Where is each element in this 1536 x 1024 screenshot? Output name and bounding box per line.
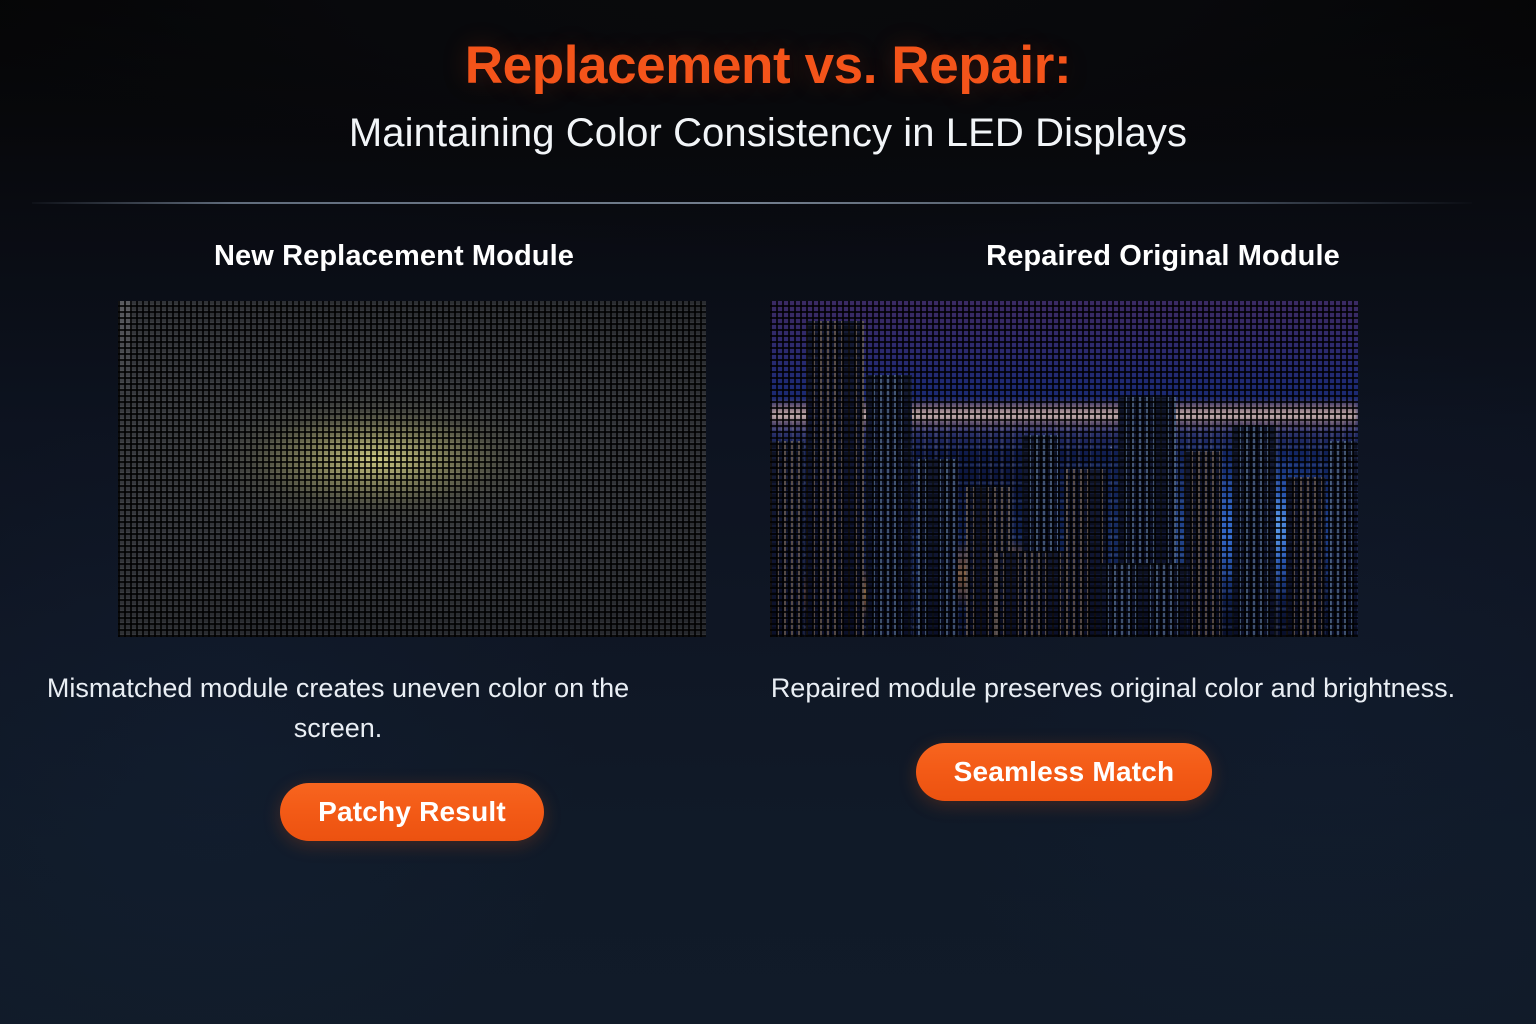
page-subtitle: Maintaining Color Consistency in LED Dis… — [0, 95, 1536, 157]
building-silhouette — [1286, 477, 1326, 637]
seamless-match-button[interactable]: Seamless Match — [916, 743, 1213, 801]
cityscape-image — [770, 301, 1358, 637]
panel-wrap-right — [768, 301, 1536, 637]
building-silhouette — [1232, 425, 1276, 637]
slide-header: Replacement vs. Repair: Maintaining Colo… — [0, 0, 1536, 157]
led-module-blemish — [118, 301, 132, 393]
building-silhouette — [1330, 441, 1358, 637]
caption-right: Repaired module preserves original color… — [768, 637, 1536, 709]
page-title: Replacement vs. Repair: — [0, 0, 1536, 95]
building-silhouette — [1184, 451, 1222, 637]
led-module-cityscape-panel — [770, 301, 1358, 637]
button-row-right: Seamless Match — [768, 743, 1358, 801]
led-module-dark-panel — [118, 301, 706, 637]
building-silhouette — [866, 375, 912, 637]
column-new-replacement-module: New Replacement Module Mismatched module… — [0, 240, 768, 841]
column-heading-right: Repaired Original Module — [768, 240, 1536, 273]
comparison-columns: New Replacement Module Mismatched module… — [0, 240, 1536, 841]
column-repaired-original-module: Repaired Original Module — [768, 240, 1536, 841]
building-silhouette — [996, 551, 1072, 637]
caption-left: Mismatched module creates uneven color o… — [0, 637, 768, 749]
panel-wrap-left — [0, 301, 768, 637]
patchy-result-button[interactable]: Patchy Result — [280, 783, 544, 841]
led-module-surface — [118, 301, 706, 637]
button-row-left: Patchy Result — [0, 783, 706, 841]
column-heading-left: New Replacement Module — [0, 240, 768, 273]
building-silhouette — [1100, 563, 1188, 637]
building-silhouette — [806, 321, 864, 637]
building-silhouette — [918, 459, 958, 637]
building-silhouette — [770, 441, 804, 637]
header-divider — [32, 202, 1472, 204]
slide-root: Replacement vs. Repair: Maintaining Colo… — [0, 0, 1536, 1024]
